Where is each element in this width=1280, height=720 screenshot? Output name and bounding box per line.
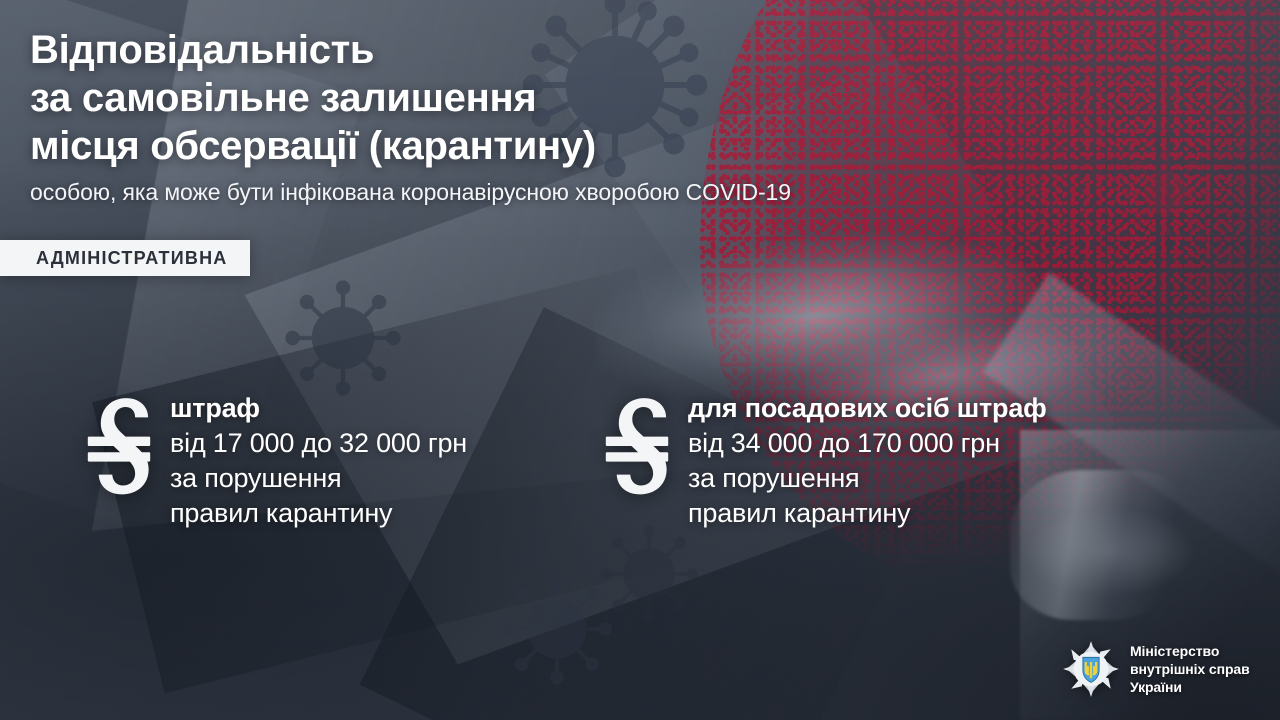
covid-responsibility-poster: Відповідальність за самовільне залишення…: [0, 0, 1280, 720]
hryvnia-icon: [604, 394, 670, 498]
page-title: Відповідальність за самовільне залишення…: [30, 26, 596, 170]
poster-content: Відповідальність за самовільне залишення…: [0, 0, 1280, 720]
fine-text-official: для посадових осіб штраф від 34 000 до 1…: [688, 392, 1047, 531]
fine-reason-line-1: за порушення: [170, 461, 467, 496]
title-line-3: місця обсервації (карантину): [30, 122, 596, 170]
fine-block-citizen: штраф від 17 000 до 32 000 грн за поруше…: [86, 392, 467, 531]
fine-text-citizen: штраф від 17 000 до 32 000 грн за поруше…: [170, 392, 467, 531]
status-badge: АДМІНІСТРАТИВНА: [0, 240, 250, 276]
fine-reason-line-2: правил карантину: [170, 496, 467, 531]
ministry-logo: Міністерство внутрішніх справ України: [1062, 640, 1250, 698]
logo-line-1: Міністерство: [1130, 642, 1250, 660]
title-line-2: за самовільне залишення: [30, 74, 596, 122]
fine-heading: штраф: [170, 392, 467, 424]
fine-block-official: для посадових осіб штраф від 34 000 до 1…: [604, 392, 1047, 531]
logo-line-3: України: [1130, 678, 1250, 696]
ministry-logo-text: Міністерство внутрішніх справ України: [1130, 642, 1250, 696]
fine-reason-line-1: за порушення: [688, 461, 1047, 496]
title-line-1: Відповідальність: [30, 26, 596, 74]
fine-reason-line-2: правил карантину: [688, 496, 1047, 531]
fine-amount: від 17 000 до 32 000 грн: [170, 426, 467, 461]
mvs-cockade-badge-icon: [1062, 640, 1120, 698]
hryvnia-icon: [86, 394, 152, 498]
logo-line-2: внутрішніх справ: [1130, 660, 1250, 678]
fine-heading: для посадових осіб штраф: [688, 392, 1047, 424]
page-subtitle: особою, яка може бути інфікована коронав…: [30, 178, 791, 206]
fine-amount: від 34 000 до 170 000 грн: [688, 426, 1047, 461]
